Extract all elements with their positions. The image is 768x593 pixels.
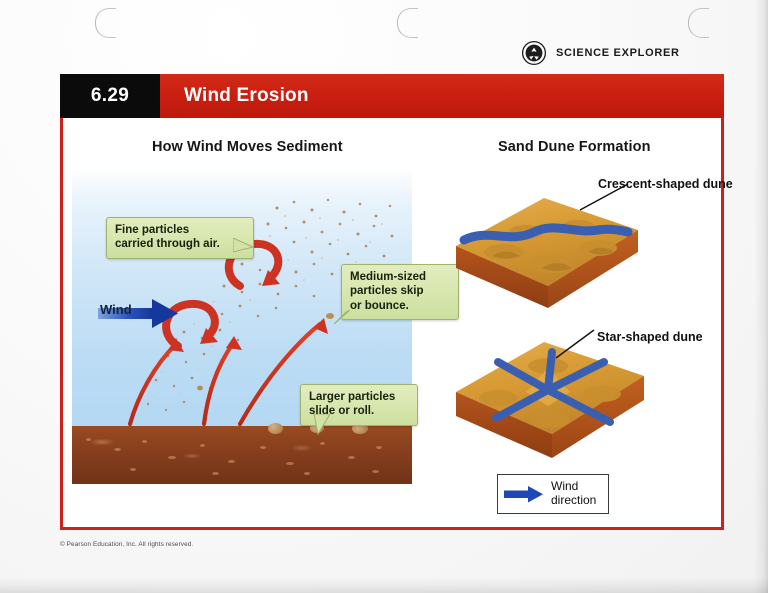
saltation-arrowhead-2	[226, 336, 242, 350]
punch-hole-2	[397, 8, 418, 38]
bouncing-grain-2	[197, 386, 203, 391]
callout-tail-larger	[312, 414, 334, 438]
punch-hole-3	[688, 8, 709, 38]
right-section-heading: Sand Dune Formation	[498, 139, 651, 155]
callout-tail-medium	[326, 310, 350, 332]
crescent-dune-label: Crescent-shaped dune	[598, 177, 733, 191]
wind-direction-legend: Wind direction	[497, 474, 609, 514]
star-dune-block	[456, 330, 644, 458]
rolling-pebble-1	[268, 423, 283, 434]
sheet-bottom-shadow	[0, 577, 768, 593]
recycle-circle-icon	[521, 40, 547, 66]
star-dune-label: Star-shaped dune	[597, 330, 703, 344]
left-section-heading: How Wind Moves Sediment	[152, 139, 343, 155]
callout-medium-particles: Medium-sized particles skip or bounce.	[341, 264, 459, 320]
crescent-dune-block	[456, 184, 638, 308]
saltation-paths	[130, 324, 320, 424]
wind-sediment-illustration	[72, 166, 412, 484]
worksheet-page: SCIENCE EXPLORER 6.29 Wind Erosion How W…	[0, 0, 768, 593]
callout-tail-fine	[233, 238, 255, 260]
dune-illustrations	[452, 168, 712, 468]
wind-label: Wind	[100, 302, 132, 317]
lesson-number: 6.29	[60, 74, 160, 118]
legend-label: Wind direction	[551, 480, 596, 508]
right-arrow-icon	[504, 485, 544, 503]
wind-swirls	[166, 244, 278, 346]
sheet-right-shadow	[754, 0, 768, 593]
ground-surface	[72, 426, 412, 484]
brand-text: SCIENCE EXPLORER	[556, 47, 680, 59]
title-bar: 6.29 Wind Erosion	[60, 74, 724, 118]
brand: SCIENCE EXPLORER	[521, 40, 680, 66]
callout-fine-particles: Fine particles carried through air.	[106, 217, 254, 259]
copyright-text: © Pearson Education, Inc. All rights res…	[60, 541, 193, 548]
page-title: Wind Erosion	[160, 74, 724, 118]
punch-hole-1	[95, 8, 116, 38]
